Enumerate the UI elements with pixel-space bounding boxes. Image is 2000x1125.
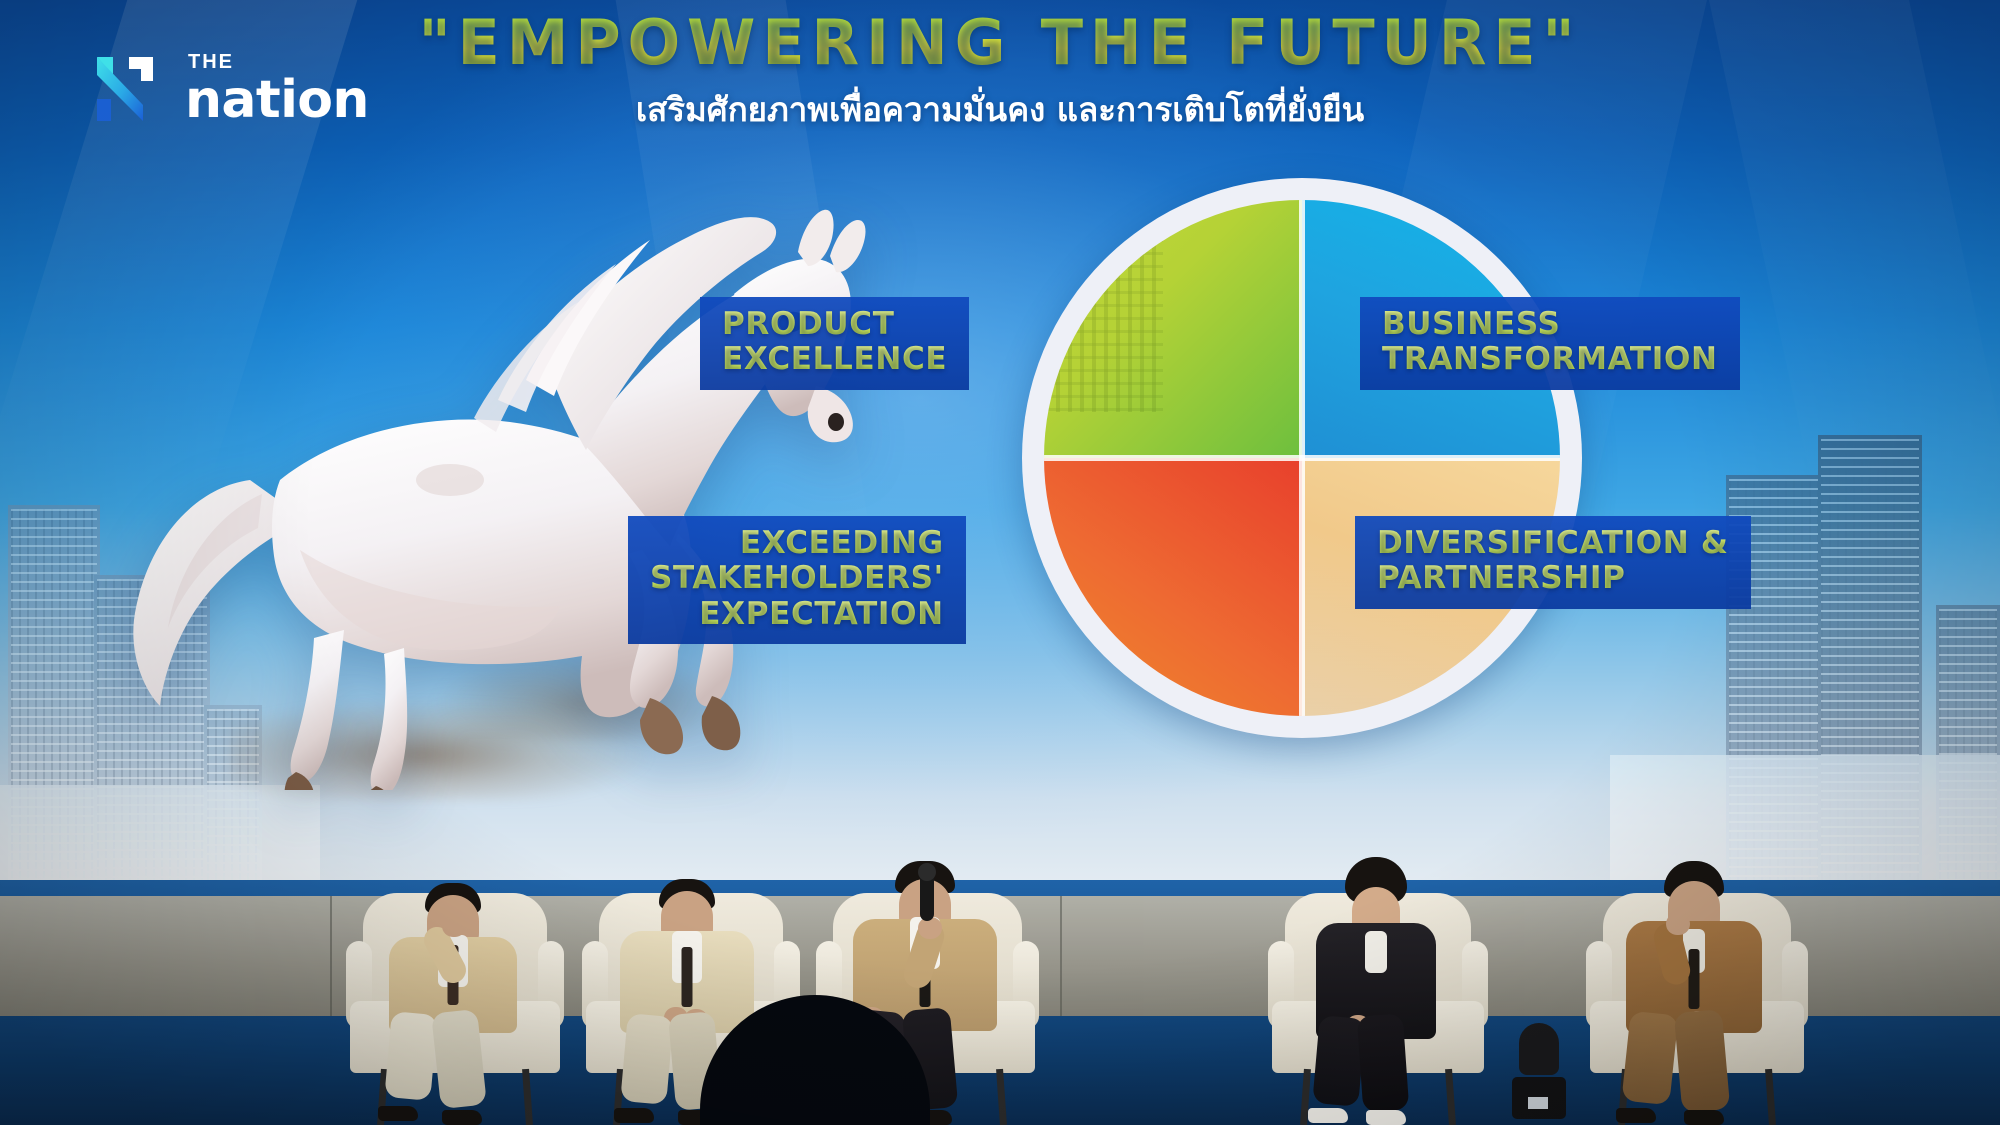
wheel-quadrant-exceeding-stakeholders — [1044, 458, 1302, 716]
label-product-excellence: PRODUCT EXCELLENCE — [700, 297, 969, 390]
wheel-quadrant-product-excellence — [1044, 200, 1302, 458]
leg — [1357, 1014, 1410, 1113]
leg — [384, 1011, 437, 1101]
panelist-4 — [1280, 845, 1472, 1125]
label-exceeding-stakeholders-expectation: EXCEEDING STAKEHOLDERS' EXPECTATION — [628, 516, 966, 644]
label-diversification-partnership: DIVERSIFICATION & PARTNERSHIP — [1355, 516, 1751, 609]
hand — [1666, 913, 1690, 935]
label-line: PARTNERSHIP — [1377, 561, 1729, 596]
strategy-wheel-diagram — [1022, 178, 1582, 738]
leg — [620, 1013, 673, 1105]
label-line: TRANSFORMATION — [1382, 342, 1718, 377]
nation-logo[interactable]: THE nation — [95, 52, 369, 126]
shoe — [1684, 1110, 1724, 1125]
hand — [442, 915, 466, 937]
screenshot-root: PRODUCT EXCELLENCE BUSINESS TRANSFORMATI… — [0, 0, 2000, 1125]
city-skyline-right — [1580, 385, 2000, 905]
logo-the-text: THE — [188, 52, 369, 72]
stage-spotlight-unit — [1512, 1023, 1566, 1119]
necktie — [682, 947, 693, 1007]
shoe — [614, 1108, 654, 1123]
label-line: DIVERSIFICATION & — [1377, 526, 1729, 561]
label-line: EXCELLENCE — [722, 342, 947, 377]
shoe — [1616, 1108, 1656, 1123]
n-monogram-icon — [95, 53, 169, 125]
label-line: PRODUCT — [722, 307, 947, 342]
wheel-divider-horizontal — [1044, 455, 1560, 461]
shoe — [1308, 1108, 1348, 1123]
nation-logo-wordmark: THE nation — [185, 52, 369, 126]
label-line: EXCEEDING — [650, 526, 944, 561]
microphone-icon — [920, 871, 934, 921]
label-line: EXPECTATION — [650, 597, 944, 632]
shirt — [1365, 931, 1387, 973]
necktie — [1689, 949, 1700, 1009]
shoe — [378, 1106, 418, 1121]
leg — [1621, 1011, 1678, 1106]
leg — [431, 1009, 487, 1109]
shoe — [442, 1110, 482, 1125]
leg — [1674, 1009, 1731, 1113]
logo-nation-text: nation — [185, 74, 369, 126]
shoe — [1366, 1110, 1406, 1125]
label-line: BUSINESS — [1382, 307, 1718, 342]
panelist-1 — [358, 860, 548, 1125]
label-line: STAKEHOLDERS' — [650, 561, 944, 596]
panelist-5 — [1596, 843, 1792, 1125]
label-business-transformation: BUSINESS TRANSFORMATION — [1360, 297, 1740, 390]
wheel-disc — [1044, 200, 1560, 716]
white-horse-graphic — [130, 150, 870, 790]
